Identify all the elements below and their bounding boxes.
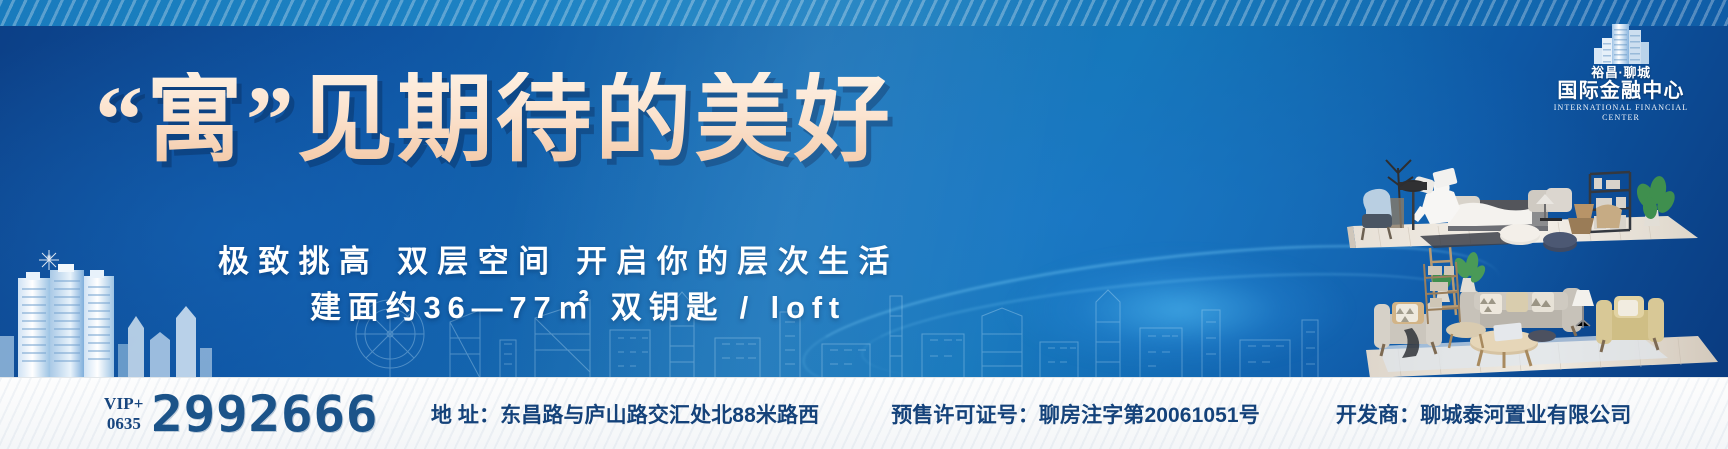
page-title: “寓”见期待的美好 [95,72,893,168]
contact-info-bar: VIP+ 0635 2992666 地 址：东昌路与庐山路交汇处北88米路西 预… [0,377,1728,449]
subtitle-features: 极致挑高 双层空间 开启你的层次生活 [218,236,899,281]
area-range-text: 建面约36—77 [310,290,558,325]
area-unit-text: ㎡ [558,290,596,325]
address-value: 东昌路与庐山路交汇处北88米路西 [500,404,819,427]
address-label: 地 址： [431,404,500,427]
vip-label: VIP+ [104,394,144,413]
address-item: 地 址：东昌路与庐山路交汇处北88米路西 [431,399,819,429]
interior-furniture-scene [1198,78,1718,378]
top-diagonal-stripe-band [0,0,1728,26]
developer-item: 开发商：聊城泰河置业有限公司 [1336,399,1631,429]
vip-area-code: 0635 [104,414,144,433]
license-value: 聊房注字第20061051号 [1039,404,1260,427]
developer-value: 聊城泰河置业有限公司 [1420,404,1631,427]
phone-number: 2992666 [151,389,378,439]
license-item: 预售许可证号：聊房注字第20061051号 [891,399,1260,429]
license-label: 预售许可证号： [891,404,1039,427]
developer-label: 开发商： [1336,404,1420,427]
vip-label-block: VIP+ 0635 [104,394,144,432]
banner-artwork-background: “寓”见期待的美好 极致挑高 双层空间 开启你的层次生活 建面约36—77㎡ 双… [0,0,1728,378]
real-estate-banner: “寓”见期待的美好 极致挑高 双层空间 开启你的层次生活 建面约36—77㎡ 双… [0,0,1728,449]
phone-block: VIP+ 0635 2992666 [104,389,365,439]
unit-type-text: 双钥匙 / loft [595,290,846,325]
subtitle-area-spec: 建面约36—77㎡ 双钥匙 / loft [310,282,846,327]
logo-building-icon [1584,20,1658,64]
